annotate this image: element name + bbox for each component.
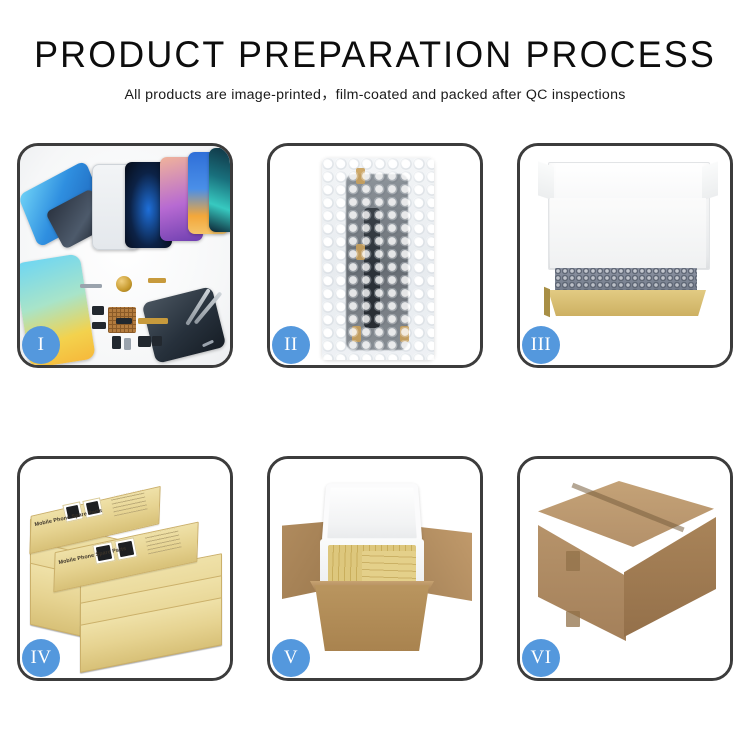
bubble-wrap-bag xyxy=(322,158,434,360)
step-panel-6: VI Sealed shipping carton xyxy=(517,456,733,681)
foam-case-lid xyxy=(322,483,423,543)
flex-cable-component xyxy=(138,318,168,324)
kraft-box-side xyxy=(544,287,550,317)
antenna-strip-component xyxy=(80,284,102,288)
vibrator-component xyxy=(152,336,162,346)
ic-chip-component xyxy=(112,336,121,349)
step-panel-5: V Boxes packed in foam case inside carto… xyxy=(267,456,483,681)
step-panel-1: I Phone screens, displays and spare part… xyxy=(17,143,233,368)
carton-tape-patch xyxy=(566,551,580,571)
product-preparation-infographic: PRODUCT PREPARATION PROCESS All products… xyxy=(0,0,750,750)
step-6-caption: Sealed shipping carton xyxy=(520,459,521,460)
step-3-caption: Open kraft inner box with foam padding xyxy=(520,146,521,147)
box-inner-wall xyxy=(550,198,706,268)
box-lid-flap-left xyxy=(538,161,554,200)
step-panel-4: Mobile Phone Spare Parts Mobile Phone Sp… xyxy=(17,456,233,681)
step-badge-2: II xyxy=(272,326,310,364)
step-1-caption: Phone screens, displays and spare parts … xyxy=(20,146,21,147)
packed-retail-boxes xyxy=(362,551,416,583)
kraft-box-front xyxy=(548,290,706,316)
screw-component xyxy=(124,338,131,350)
step-badge-1: I xyxy=(22,326,60,364)
step-badge-6: VI xyxy=(522,639,560,677)
process-steps-grid: I Phone screens, displays and spare part… xyxy=(17,143,733,681)
ic-chip-component xyxy=(92,322,106,329)
page-subtitle: All products are image-printed，film-coat… xyxy=(0,86,750,104)
step-panel-2: II Part sealed in bubble wrap bag xyxy=(267,143,483,368)
bubble-texture xyxy=(322,158,434,360)
carton-tape-patch xyxy=(566,611,580,627)
phone-display-teal xyxy=(209,148,230,232)
flex-cable-component xyxy=(148,278,166,283)
carton-front xyxy=(310,585,434,651)
step-badge-4: IV xyxy=(22,639,60,677)
step-badge-3: III xyxy=(522,326,560,364)
camera-module-component xyxy=(138,336,151,347)
step-2-caption: Part sealed in bubble wrap bag xyxy=(270,146,271,147)
header: PRODUCT PREPARATION PROCESS All products… xyxy=(0,34,750,104)
step-5-caption: Boxes packed in foam case inside carton xyxy=(270,459,271,460)
speaker-component xyxy=(116,276,132,292)
page-title: PRODUCT PREPARATION PROCESS xyxy=(11,34,739,76)
retail-box-stack: Mobile Phone Spare Parts Mobile Phone Sp… xyxy=(28,481,224,663)
carton-left-face xyxy=(538,525,626,641)
box-lid-flap-right xyxy=(702,161,718,200)
step-4-caption: Stack of printed retail boxes xyxy=(20,459,21,460)
step-panel-3: III Open kraft inner box with foam paddi… xyxy=(517,143,733,368)
ic-chip-component xyxy=(92,306,104,315)
step-badge-5: V xyxy=(272,639,310,677)
battery-connector-component xyxy=(116,318,132,324)
